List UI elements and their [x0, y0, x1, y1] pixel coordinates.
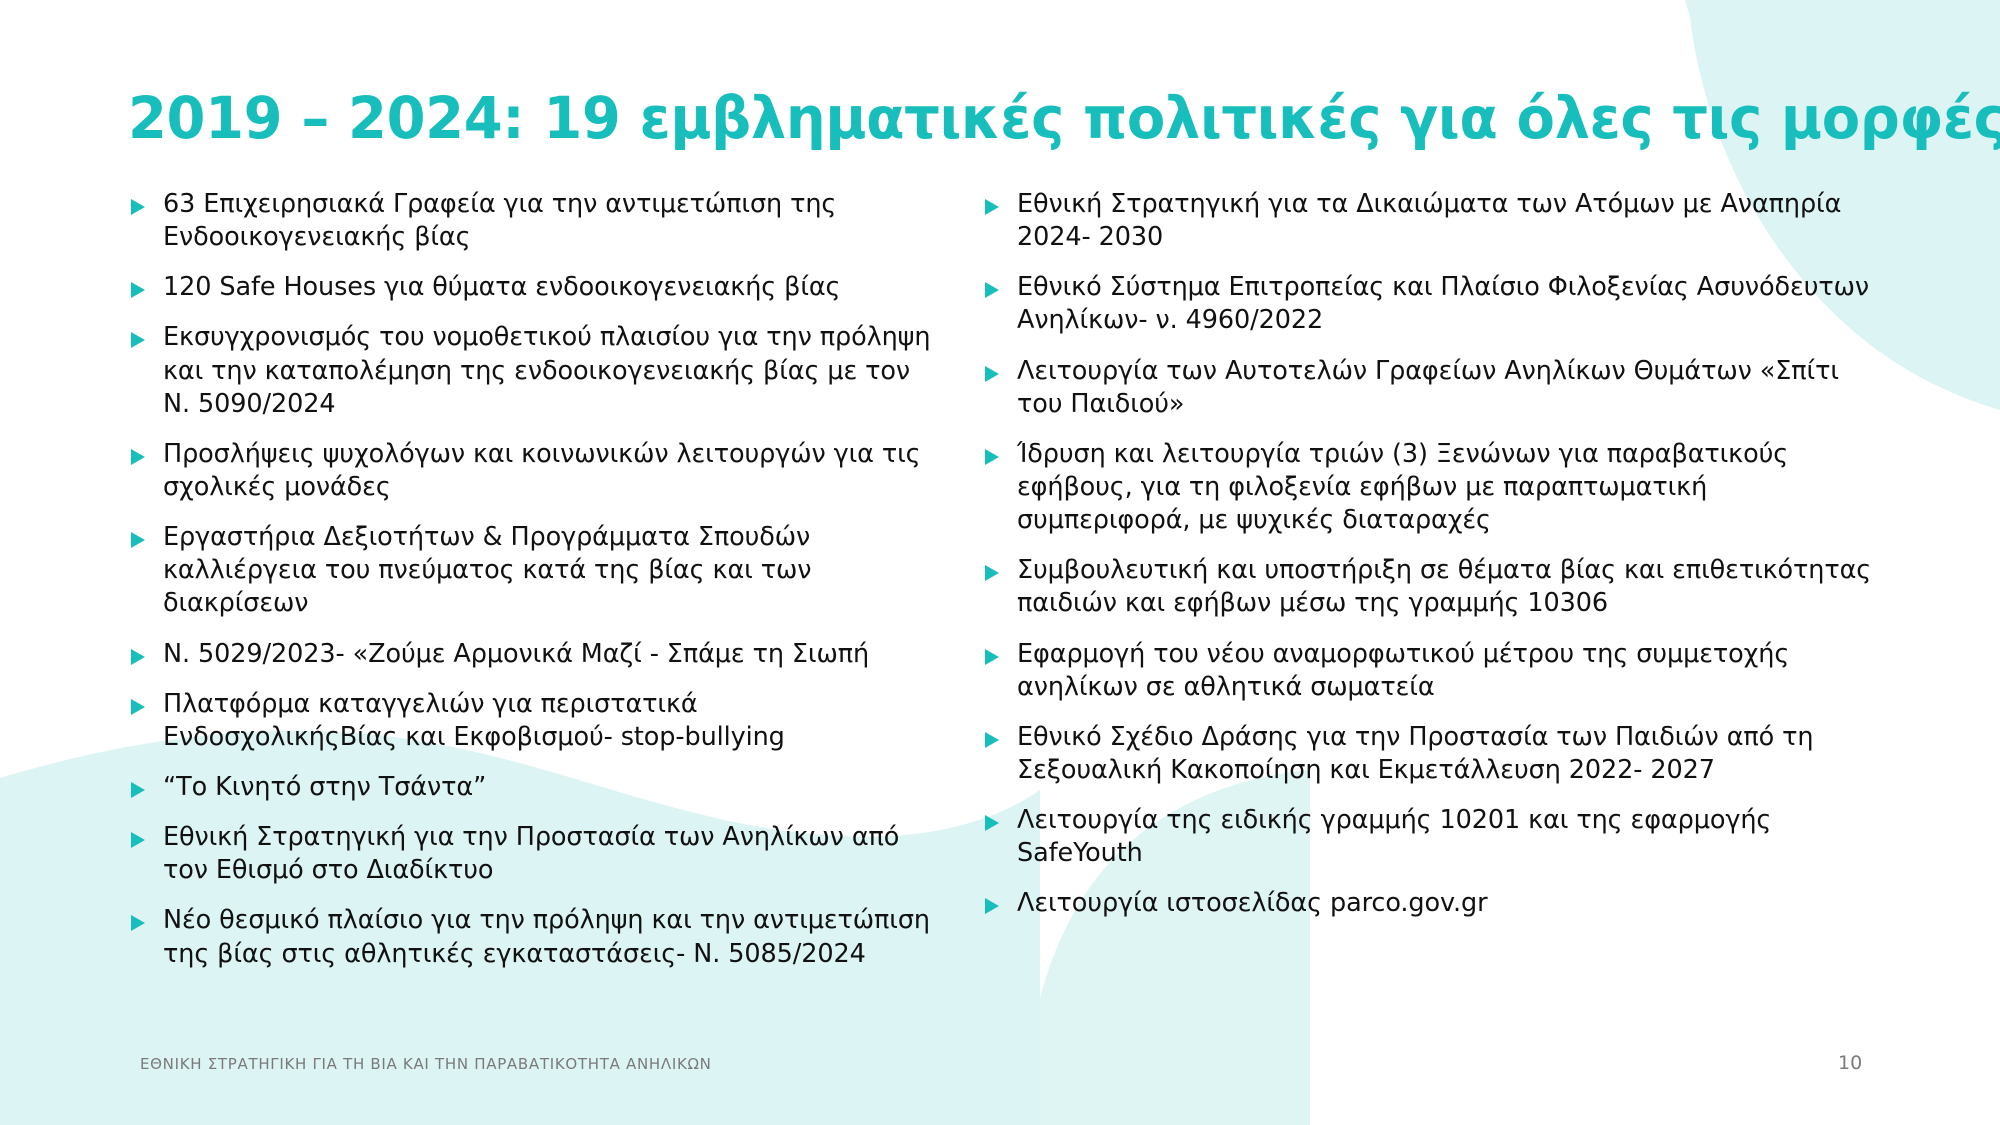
triangle-right-icon: [982, 364, 1004, 384]
list-item[interactable]: Εθνική Στρατηγική για την Προστασία των …: [128, 821, 938, 887]
list-item[interactable]: Λειτουργία ιστοσελίδας parco.gov.gr: [982, 887, 1872, 920]
left-column: 63 Επιχειρησιακά Γραφεία για την αντιμετ…: [128, 188, 938, 988]
list-item-label: Εθνική Στρατηγική για την Προστασία των …: [163, 821, 938, 887]
list-item-label: Εφαρμογή του νέου αναμορφωτικού μέτρου τ…: [1017, 638, 1872, 704]
list-item[interactable]: Προσλήψεις ψυχολόγων και κοινωνικών λειτ…: [128, 438, 938, 504]
list-item[interactable]: 120 Safe Houses για θύματα ενδοοικογενει…: [128, 271, 938, 304]
list-item[interactable]: Λειτουργία της ειδικής γραμμής 10201 και…: [982, 804, 1872, 870]
list-item-label: Εθνικό Σύστημα Επιτροπείας και Πλαίσιο Φ…: [1017, 271, 1872, 337]
list-item[interactable]: Λειτουργία των Αυτοτελών Γραφείων Ανηλίκ…: [982, 355, 1872, 421]
content-columns: 63 Επιχειρησιακά Γραφεία για την αντιμετ…: [0, 188, 2000, 1018]
triangle-right-icon: [982, 563, 1004, 583]
triangle-right-icon: [982, 896, 1004, 916]
list-item[interactable]: Συμβουλευτική και υποστήριξη σε θέματα β…: [982, 554, 1872, 620]
page-title: 2019 – 2024: 19 εμβληματικές πολιτικές γ…: [128, 88, 1855, 149]
list-item-label: Νέο θεσμικό πλαίσιο για την πρόληψη και …: [163, 904, 938, 970]
triangle-right-icon: [128, 330, 150, 350]
triangle-right-icon: [128, 780, 150, 800]
list-item-label: Εκσυγχρονισμός του νομοθετικού πλαισίου …: [163, 321, 938, 420]
list-item[interactable]: Εργαστήρια Δεξιοτήτων & Προγράμματα Σπου…: [128, 521, 938, 620]
list-item-label: Συμβουλευτική και υποστήριξη σε θέματα β…: [1017, 554, 1872, 620]
triangle-right-icon: [128, 830, 150, 850]
list-item[interactable]: Εθνικό Σχέδιο Δράσης για την Προστασία τ…: [982, 721, 1872, 787]
list-item-label: 120 Safe Houses για θύματα ενδοοικογενει…: [163, 271, 938, 304]
page-number: 10: [1838, 1052, 1862, 1074]
triangle-right-icon: [128, 913, 150, 933]
list-item[interactable]: Ίδρυση και λειτουργία τριών (3) Ξενώνων …: [982, 438, 1872, 537]
list-item-label: Εθνική Στρατηγική για τα Δικαιώματα των …: [1017, 188, 1872, 254]
list-item[interactable]: 63 Επιχειρησιακά Γραφεία για την αντιμετ…: [128, 188, 938, 254]
list-item[interactable]: Νέο θεσμικό πλαίσιο για την πρόληψη και …: [128, 904, 938, 970]
list-item[interactable]: Ν. 5029/2023- «Ζούμε Αρμονικά Μαζί - Σπά…: [128, 638, 938, 671]
slide-footer: ΕΘΝΙΚΗ ΣΤΡΑΤΗΓΙΚΗ ΓΙΑ ΤΗ ΒΙΑ ΚΑΙ ΤΗΝ ΠΑΡ…: [140, 1055, 712, 1073]
triangle-right-icon: [128, 197, 150, 217]
list-item-label: Εθνικό Σχέδιο Δράσης για την Προστασία τ…: [1017, 721, 1872, 787]
triangle-right-icon: [982, 280, 1004, 300]
triangle-right-icon: [128, 280, 150, 300]
list-item-label: Λειτουργία των Αυτοτελών Γραφείων Ανηλίκ…: [1017, 355, 1872, 421]
list-item-label: Πλατφόρμα καταγγελιών για περιστατικά Εν…: [163, 688, 938, 754]
list-item-label: Εργαστήρια Δεξιοτήτων & Προγράμματα Σπου…: [163, 521, 938, 620]
right-column: Εθνική Στρατηγική για τα Δικαιώματα των …: [982, 188, 1872, 938]
list-item[interactable]: Εφαρμογή του νέου αναμορφωτικού μέτρου τ…: [982, 638, 1872, 704]
list-item[interactable]: Εθνική Στρατηγική για τα Δικαιώματα των …: [982, 188, 1872, 254]
list-item-label: 63 Επιχειρησιακά Γραφεία για την αντιμετ…: [163, 188, 938, 254]
list-item[interactable]: Πλατφόρμα καταγγελιών για περιστατικά Εν…: [128, 688, 938, 754]
slide-canvas: 2019 – 2024: 19 εμβληματικές πολιτικές γ…: [0, 0, 2000, 1125]
list-item-label: Ν. 5029/2023- «Ζούμε Αρμονικά Μαζί - Σπά…: [163, 638, 938, 671]
triangle-right-icon: [128, 647, 150, 667]
triangle-right-icon: [982, 647, 1004, 667]
list-item[interactable]: Εθνικό Σύστημα Επιτροπείας και Πλαίσιο Φ…: [982, 271, 1872, 337]
list-item[interactable]: “Το Κινητό στην Τσάντα”: [128, 771, 938, 804]
triangle-right-icon: [982, 730, 1004, 750]
triangle-right-icon: [128, 697, 150, 717]
list-item-label: Λειτουργία ιστοσελίδας parco.gov.gr: [1017, 887, 1872, 920]
list-item-label: Προσλήψεις ψυχολόγων και κοινωνικών λειτ…: [163, 438, 938, 504]
triangle-right-icon: [128, 447, 150, 467]
triangle-right-icon: [982, 197, 1004, 217]
list-item[interactable]: Εκσυγχρονισμός του νομοθετικού πλαισίου …: [128, 321, 938, 420]
triangle-right-icon: [982, 447, 1004, 467]
triangle-right-icon: [982, 813, 1004, 833]
list-item-label: “Το Κινητό στην Τσάντα”: [163, 771, 938, 804]
list-item-label: Λειτουργία της ειδικής γραμμής 10201 και…: [1017, 804, 1872, 870]
triangle-right-icon: [128, 530, 150, 550]
list-item-label: Ίδρυση και λειτουργία τριών (3) Ξενώνων …: [1017, 438, 1872, 537]
